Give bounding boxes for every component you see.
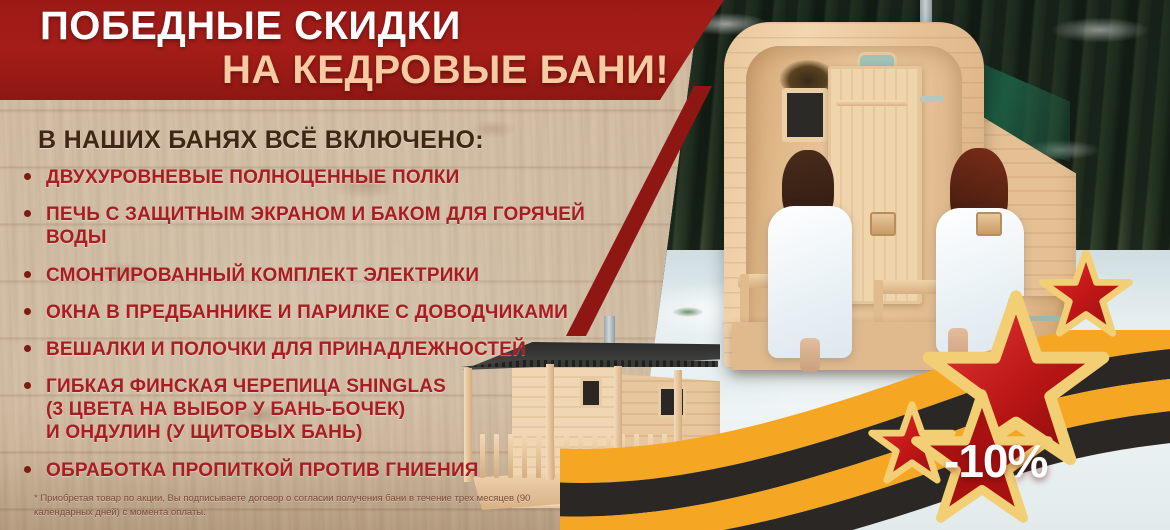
feature-item-label: ОКНА В ПРЕДБАННИКЕ И ПАРИЛКЕ С ДОВОДЧИКА… <box>46 301 616 324</box>
bullet-dot-icon <box>24 466 31 473</box>
feature-item: ВЕШАЛКИ И ПОЛОЧКИ ДЛЯ ПРИНАДЛЕЖНОСТЕЙ <box>16 338 616 361</box>
promo-banner: -10% ПОБЕДНЫЕ СКИДКИ НА КЕДРОВЫЕ БАНИ! В… <box>0 0 1170 530</box>
bullet-dot-icon <box>24 345 31 352</box>
header-title-line1: ПОБЕДНЫЕ СКИДКИ <box>40 4 461 49</box>
feature-item: ПЕЧЬ С ЗАЩИТНЫМ ЭКРАНОМ И БАКОМ ДЛЯ ГОРЯ… <box>16 203 616 249</box>
bullet-dot-icon <box>24 308 31 315</box>
feature-item: ОБРАБОТКА ПРОПИТКОЙ ПРОТИВ ГНИЕНИЯ <box>16 459 616 482</box>
feature-item: ДВУХУРОВНЕВЫЕ ПОЛНОЦЕННЫЕ ПОЛКИ <box>16 166 616 189</box>
feature-item-label: ГИБКАЯ ФИНСКАЯ ЧЕРЕПИЦА SHINGLAS <box>46 375 616 398</box>
wooden-mug <box>976 212 1002 236</box>
feature-item: ГИБКАЯ ФИНСКАЯ ЧЕРЕПИЦА SHINGLAS(3 ЦВЕТА… <box>16 375 616 445</box>
bullet-dot-icon <box>24 271 31 278</box>
features-heading: В НАШИХ БАНЯХ ВСЁ ВКЛЮЧЕНО: <box>38 126 484 155</box>
header-title-line2: НА КЕДРОВЫЕ БАНИ! <box>222 48 669 93</box>
sauna-window <box>782 88 828 142</box>
discount-value: -10% <box>944 434 1047 488</box>
promo-disclaimer: * Приобретая товар по акции, Вы подписыв… <box>34 492 554 520</box>
features-list: ДВУХУРОВНЕВЫЕ ПОЛНОЦЕННЫЕ ПОЛКИПЕЧЬ С ЗА… <box>16 166 616 496</box>
feature-item-label: СМОНТИРОВАННЫЙ КОМПЛЕКТ ЭЛЕКТРИКИ <box>46 264 616 287</box>
feature-item-label: ДВУХУРОВНЕВЫЕ ПОЛНОЦЕННЫЕ ПОЛКИ <box>46 166 616 189</box>
feature-item-label: (3 ЦВЕТА НА ВЫБОР У БАНЬ-БОЧЕК) <box>46 398 616 421</box>
wooden-mug <box>870 212 896 236</box>
star-small-top <box>1043 251 1130 333</box>
door-hinge <box>920 96 944 102</box>
feature-item: СМОНТИРОВАННЫЙ КОМПЛЕКТ ЭЛЕКТРИКИ <box>16 264 616 287</box>
bullet-dot-icon <box>24 173 31 180</box>
bullet-dot-icon <box>24 210 31 217</box>
door-handrail <box>836 100 908 106</box>
feature-item-label: И ОНДУЛИН (У ЩИТОВЫХ БАНЬ) <box>46 421 616 444</box>
victory-stars-badge <box>850 250 1170 530</box>
feature-item-label: ОБРАБОТКА ПРОПИТКОЙ ПРОТИВ ГНИЕНИЯ <box>46 459 616 482</box>
feature-item-label: ПЕЧЬ С ЗАЩИТНЫМ ЭКРАНОМ И БАКОМ ДЛЯ ГОРЯ… <box>46 203 616 249</box>
feature-item: ОКНА В ПРЕДБАННИКЕ И ПАРИЛКЕ С ДОВОДЧИКА… <box>16 301 616 324</box>
bench-post <box>740 274 749 322</box>
feature-item-label: ВЕШАЛКИ И ПОЛОЧКИ ДЛЯ ПРИНАДЛЕЖНОСТЕЙ <box>46 338 616 361</box>
bullet-dot-icon <box>24 382 31 389</box>
